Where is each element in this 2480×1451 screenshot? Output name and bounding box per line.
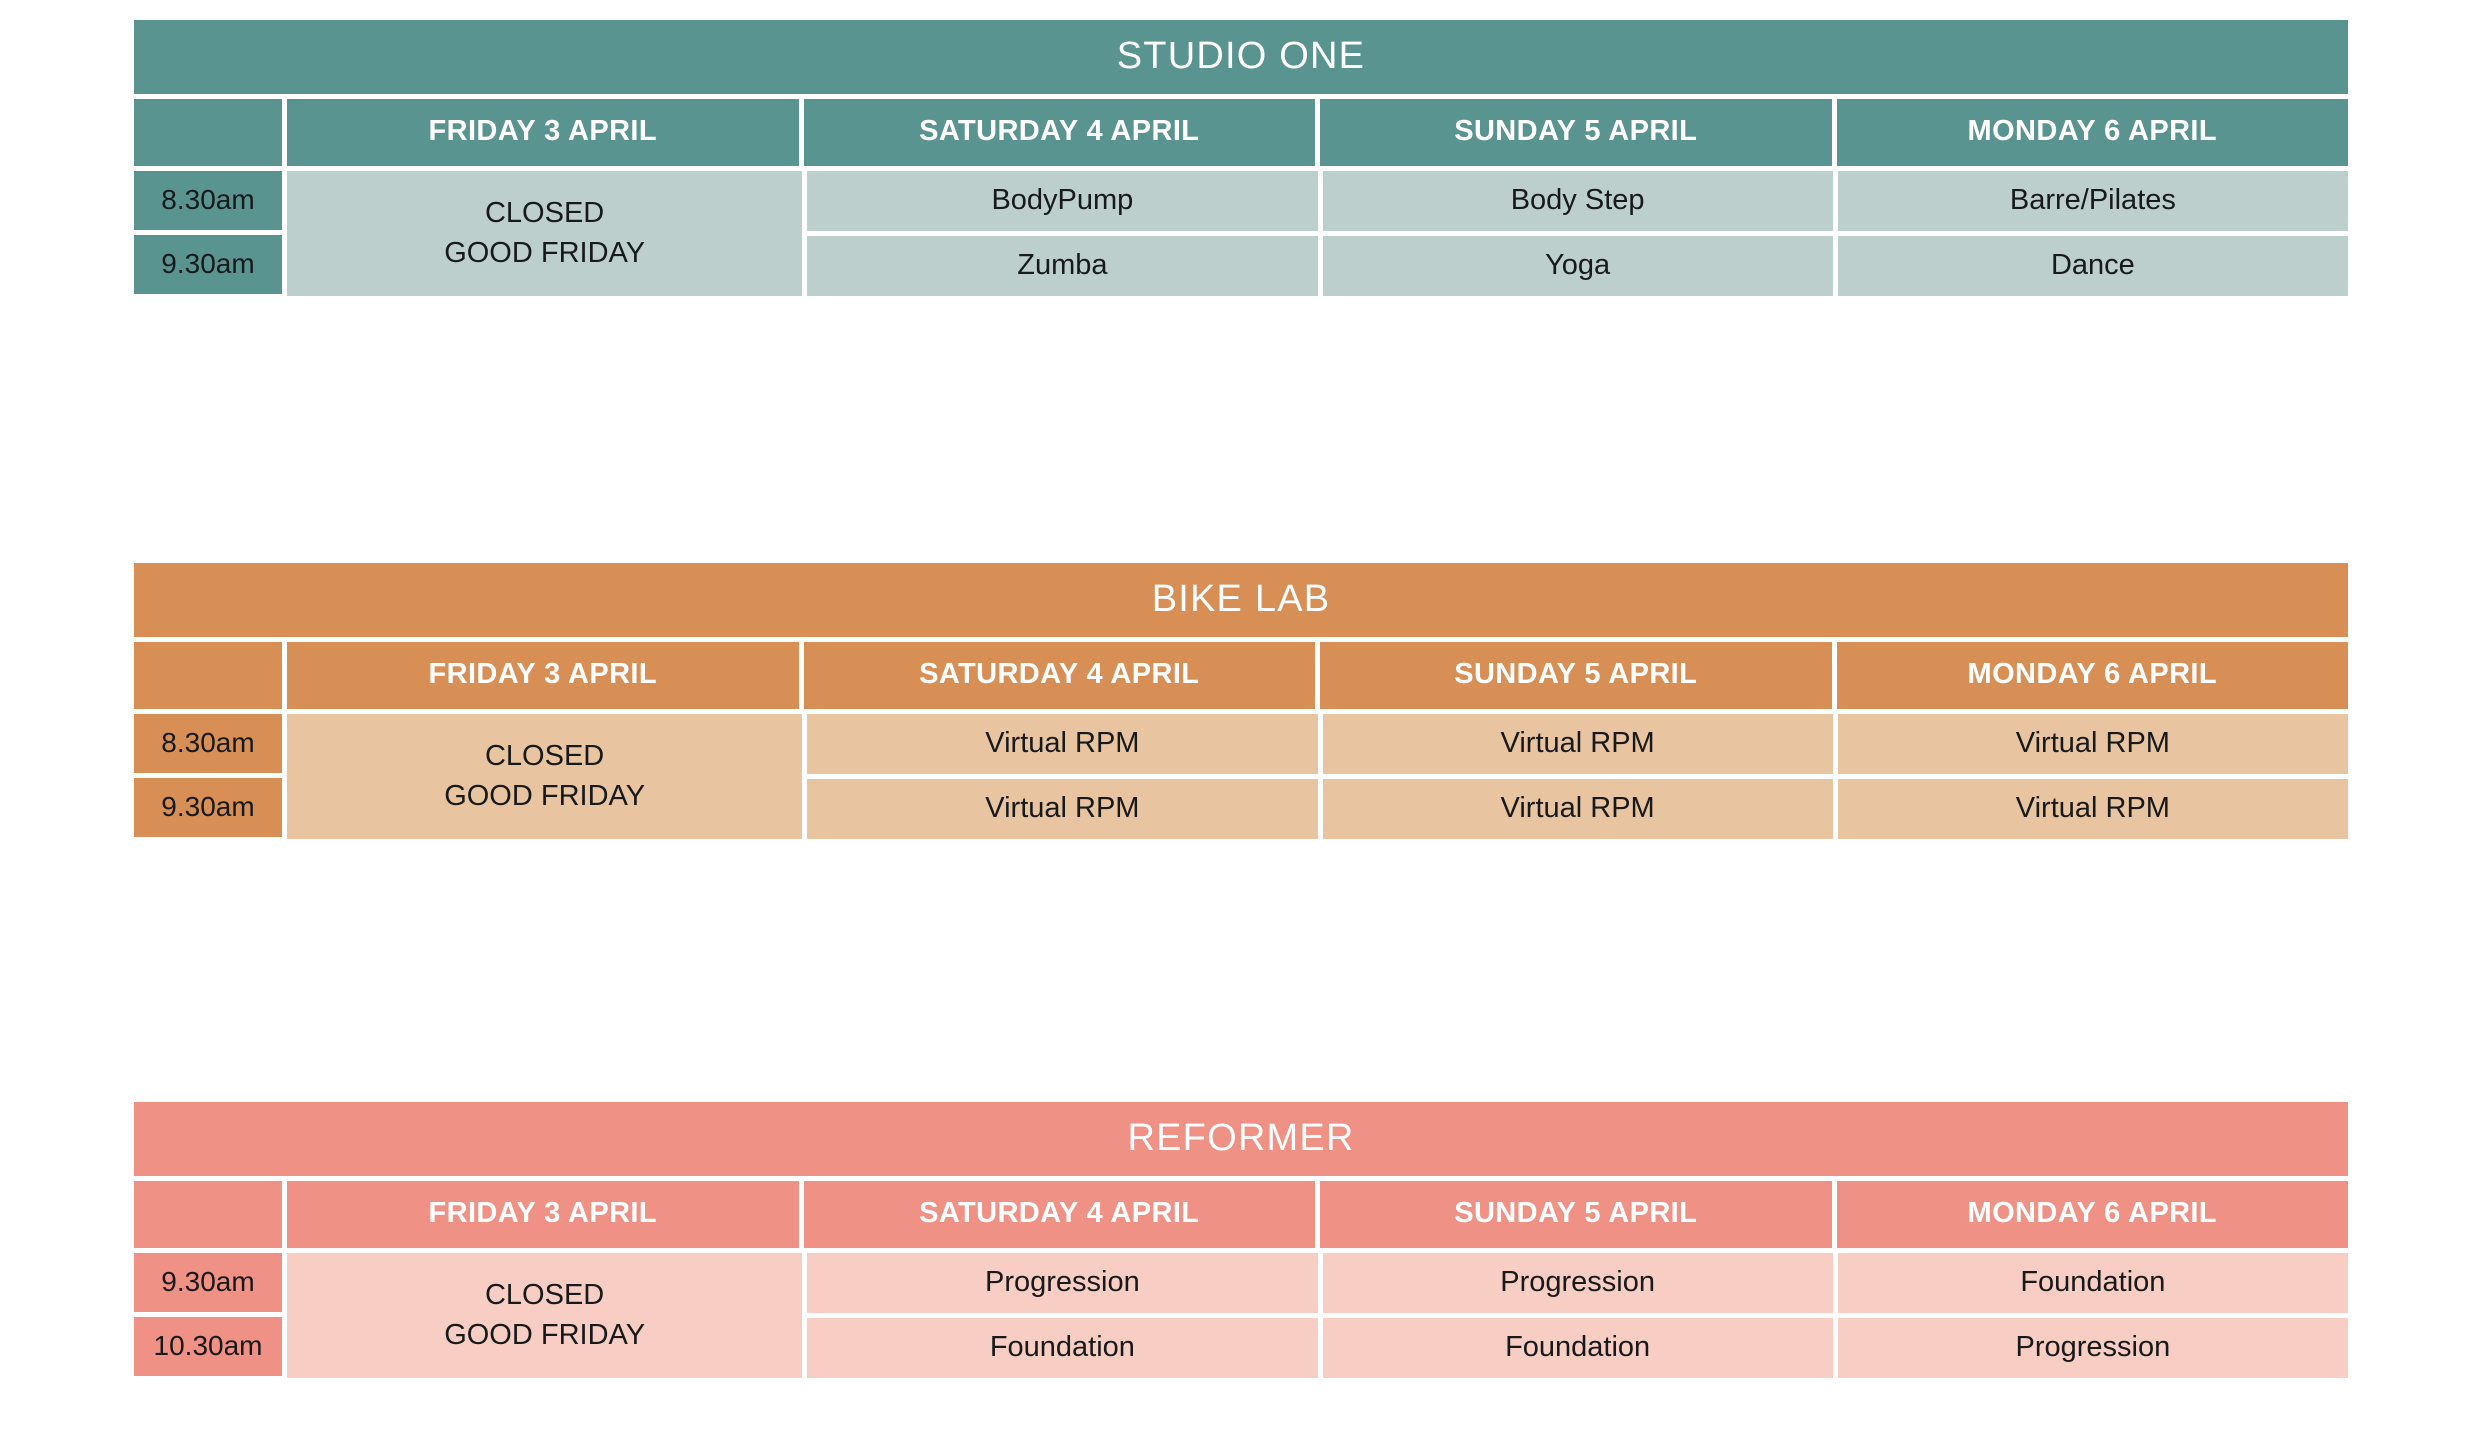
header-corner-blank	[134, 99, 282, 166]
day-header-monday: MONDAY 6 APRIL	[1837, 1181, 2349, 1248]
class-cell: Foundation	[1838, 1253, 2348, 1313]
closed-notice-line2: GOOD FRIDAY	[444, 234, 645, 273]
closed-notice-line2: GOOD FRIDAY	[444, 1316, 645, 1355]
day-header-saturday: SATURDAY 4 APRIL	[804, 99, 1316, 166]
closed-notice-line1: CLOSED	[485, 1276, 604, 1315]
table-row: Zumba Yoga Dance	[802, 236, 2348, 296]
class-cell: Foundation	[807, 1318, 1317, 1378]
timetable-header-row: FRIDAY 3 APRIL SATURDAY 4 APRIL SUNDAY 5…	[134, 99, 2348, 166]
class-cell: Progression	[1838, 1318, 2348, 1378]
table-row: Virtual RPM Virtual RPM Virtual RPM	[802, 714, 2348, 774]
closed-notice-friday: CLOSED GOOD FRIDAY	[287, 1253, 802, 1378]
day-header-sunday: SUNDAY 5 APRIL	[1320, 99, 1832, 166]
class-cell: Virtual RPM	[1838, 779, 2348, 839]
day-header-friday: FRIDAY 3 APRIL	[287, 642, 799, 709]
closed-notice-line1: CLOSED	[485, 737, 604, 776]
closed-notice-friday: CLOSED GOOD FRIDAY	[287, 171, 802, 296]
timetable-title: BIKE LAB	[134, 563, 2348, 637]
time-label: 9.30am	[134, 778, 282, 837]
timetable-studio-one: STUDIO ONE FRIDAY 3 APRIL SATURDAY 4 APR…	[134, 20, 2348, 296]
class-grid: Progression Progression Foundation Found…	[802, 1253, 2348, 1378]
class-cell: Foundation	[1323, 1318, 1833, 1378]
class-grid: BodyPump Body Step Barre/Pilates Zumba Y…	[802, 171, 2348, 296]
day-header-friday: FRIDAY 3 APRIL	[287, 99, 799, 166]
timetable-title: REFORMER	[134, 1102, 2348, 1176]
class-cell: Barre/Pilates	[1838, 171, 2348, 231]
time-column: 8.30am 9.30am	[134, 171, 282, 296]
timetable-header-row: FRIDAY 3 APRIL SATURDAY 4 APRIL SUNDAY 5…	[134, 642, 2348, 709]
timetable-reformer: REFORMER FRIDAY 3 APRIL SATURDAY 4 APRIL…	[134, 1102, 2348, 1378]
class-cell: Progression	[1323, 1253, 1833, 1313]
class-cell: Body Step	[1323, 171, 1833, 231]
time-label: 9.30am	[134, 1253, 282, 1312]
time-label: 10.30am	[134, 1317, 282, 1376]
time-label: 8.30am	[134, 714, 282, 773]
header-corner-blank	[134, 642, 282, 709]
timetable-body: 9.30am 10.30am CLOSED GOOD FRIDAY Progre…	[134, 1253, 2348, 1378]
class-cell: Virtual RPM	[1323, 714, 1833, 774]
class-cell: Virtual RPM	[807, 714, 1317, 774]
class-grid: Virtual RPM Virtual RPM Virtual RPM Virt…	[802, 714, 2348, 839]
class-cell: Virtual RPM	[1838, 714, 2348, 774]
timetable-body: 8.30am 9.30am CLOSED GOOD FRIDAY BodyPum…	[134, 171, 2348, 296]
class-cell: Virtual RPM	[807, 779, 1317, 839]
time-label: 9.30am	[134, 235, 282, 294]
day-header-monday: MONDAY 6 APRIL	[1837, 99, 2349, 166]
timetable-title: STUDIO ONE	[134, 20, 2348, 94]
class-cell: BodyPump	[807, 171, 1317, 231]
day-header-friday: FRIDAY 3 APRIL	[287, 1181, 799, 1248]
timetable-body: 8.30am 9.30am CLOSED GOOD FRIDAY Virtual…	[134, 714, 2348, 839]
closed-notice-friday: CLOSED GOOD FRIDAY	[287, 714, 802, 839]
class-cell: Zumba	[807, 236, 1317, 296]
closed-notice-line2: GOOD FRIDAY	[444, 777, 645, 816]
time-column: 9.30am 10.30am	[134, 1253, 282, 1378]
day-header-sunday: SUNDAY 5 APRIL	[1320, 1181, 1832, 1248]
time-label: 8.30am	[134, 171, 282, 230]
header-corner-blank	[134, 1181, 282, 1248]
class-cell: Dance	[1838, 236, 2348, 296]
day-header-saturday: SATURDAY 4 APRIL	[804, 1181, 1316, 1248]
table-row: Virtual RPM Virtual RPM Virtual RPM	[802, 779, 2348, 839]
class-cell: Progression	[807, 1253, 1317, 1313]
timetable-bike-lab: BIKE LAB FRIDAY 3 APRIL SATURDAY 4 APRIL…	[134, 563, 2348, 839]
day-header-monday: MONDAY 6 APRIL	[1837, 642, 2349, 709]
day-header-saturday: SATURDAY 4 APRIL	[804, 642, 1316, 709]
closed-notice-line1: CLOSED	[485, 194, 604, 233]
class-cell: Virtual RPM	[1323, 779, 1833, 839]
day-header-sunday: SUNDAY 5 APRIL	[1320, 642, 1832, 709]
table-row: Foundation Foundation Progression	[802, 1318, 2348, 1378]
table-row: BodyPump Body Step Barre/Pilates	[802, 171, 2348, 231]
timetable-header-row: FRIDAY 3 APRIL SATURDAY 4 APRIL SUNDAY 5…	[134, 1181, 2348, 1248]
table-row: Progression Progression Foundation	[802, 1253, 2348, 1313]
class-cell: Yoga	[1323, 236, 1833, 296]
time-column: 8.30am 9.30am	[134, 714, 282, 839]
